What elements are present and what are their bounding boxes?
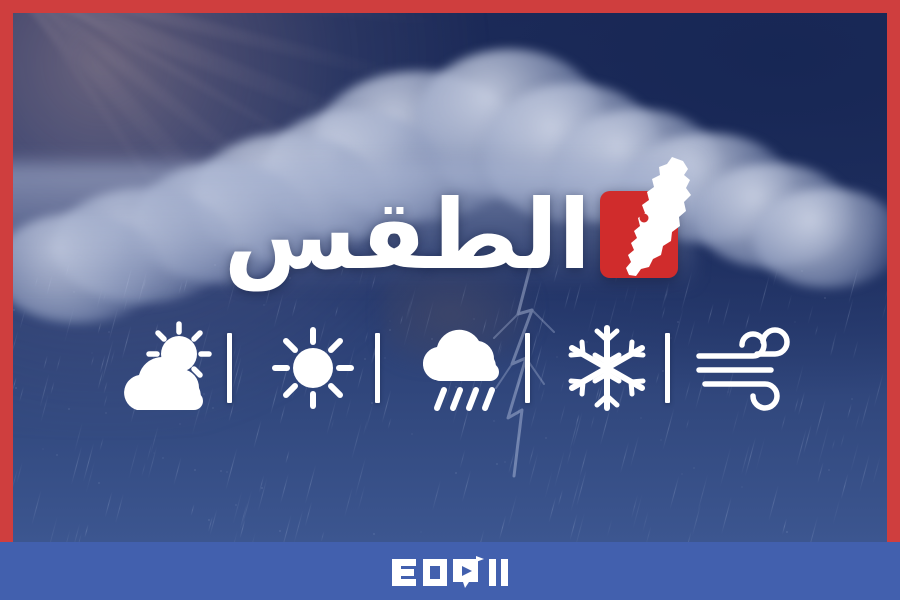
rain-streak [225, 448, 237, 490]
rain-streak [840, 474, 848, 500]
rain-streak [31, 489, 41, 525]
rain-speck [98, 482, 100, 484]
rain-streak [619, 442, 629, 475]
rain-speck [373, 533, 375, 535]
rain-streak [721, 496, 732, 534]
rain-speck [741, 486, 743, 488]
rain-streak [630, 436, 640, 468]
rain-speck [194, 469, 196, 471]
icon-separator [375, 333, 380, 403]
icon-separator [525, 333, 530, 403]
rain-streak [432, 480, 442, 512]
rain-streak [351, 421, 362, 460]
rain-streak [685, 531, 692, 542]
rain-streak [755, 435, 766, 471]
rain-streak [334, 306, 338, 317]
rain-streak [71, 445, 83, 485]
rain-streak [65, 530, 71, 542]
rain-streak [141, 462, 146, 477]
rain-streak [257, 478, 267, 513]
rain-speck [179, 423, 181, 425]
rain-cloud-icon[interactable] [411, 318, 521, 418]
rain-speck [13, 309, 15, 311]
rain-streak [840, 433, 845, 447]
rain-streak [508, 494, 518, 528]
rain-streak [882, 301, 887, 319]
icon-separator [665, 333, 670, 403]
title-row: الطقس [13, 176, 887, 294]
rain-speck [828, 469, 830, 471]
channel-wordmark-logo[interactable] [390, 554, 510, 588]
rain-speck [660, 439, 662, 441]
capital-marker [640, 214, 649, 223]
rain-streak [460, 450, 466, 469]
background-photo: الطقس [13, 13, 887, 542]
rain-streak [569, 513, 577, 540]
rain-streak [84, 524, 89, 538]
rain-streak [872, 455, 881, 485]
rain-speck [824, 297, 826, 299]
rain-streak [46, 514, 58, 542]
rain-speck [162, 457, 164, 459]
wind-icon[interactable] [691, 318, 801, 418]
rain-streak [286, 450, 291, 464]
rain-streak [548, 497, 556, 523]
rain-streak [803, 423, 812, 454]
rain-speck [681, 473, 683, 475]
rain-speck [786, 531, 788, 533]
rain-streak [320, 531, 324, 542]
rain-streak [281, 514, 291, 542]
rain-speck [42, 448, 44, 450]
rain-streak [850, 441, 860, 473]
rain-streak [74, 421, 83, 452]
rain-streak [499, 515, 507, 540]
rain-speck [153, 452, 155, 454]
rain-streak [305, 464, 316, 503]
rain-streak [642, 511, 649, 533]
rain-streak [358, 485, 366, 511]
weather-title-card: الطقس [0, 0, 900, 600]
rain-streak [558, 489, 563, 505]
rain-streak [294, 510, 304, 542]
rain-streak [104, 491, 112, 518]
rain-streak [831, 439, 835, 450]
rain-speck [226, 471, 228, 473]
rain-streak [787, 294, 792, 311]
rain-streak [128, 442, 139, 479]
rain-streak [115, 493, 124, 523]
lebanon-map-shape [587, 155, 707, 285]
rain-streak [768, 484, 779, 521]
page-title: الطقس [224, 176, 591, 294]
rain-streak [859, 454, 870, 493]
partly-cloudy-icon[interactable] [117, 318, 225, 418]
rain-streak [645, 526, 651, 542]
rain-streak [230, 530, 238, 542]
rain-streak [670, 475, 680, 509]
rain-streak [280, 473, 289, 503]
bottom-bar [0, 542, 900, 600]
rain-speck [235, 504, 237, 506]
rain-streak [344, 486, 353, 517]
sun-icon[interactable] [265, 318, 361, 418]
rain-speck [208, 519, 210, 521]
rain-streak [807, 515, 819, 542]
rain-streak [304, 501, 312, 526]
rain-speck [693, 467, 695, 469]
icon-separator [227, 333, 232, 403]
rain-streak [477, 529, 485, 542]
snowflake-icon[interactable] [561, 318, 653, 418]
rain-streak [173, 457, 182, 486]
rain-streak [247, 532, 256, 542]
rain-streak [692, 504, 702, 537]
rain-streak [388, 418, 392, 429]
rain-streak [607, 519, 613, 539]
rain-streak [817, 425, 829, 466]
rain-streak [191, 504, 195, 516]
rain-speck [220, 470, 222, 472]
rain-speck [279, 530, 281, 532]
rain-speck [56, 454, 58, 456]
rain-streak [331, 419, 335, 431]
weather-icon-strip [13, 318, 887, 418]
lebanon-map-logo [587, 155, 707, 285]
rain-streak [832, 497, 840, 525]
rain-streak [99, 437, 104, 451]
rain-speck [455, 472, 457, 474]
rain-streak [354, 457, 366, 497]
rain-speck [420, 531, 422, 533]
rain-speck [411, 433, 413, 435]
rain-streak [240, 490, 252, 530]
rain-streak [686, 419, 690, 429]
rain-streak [291, 298, 297, 317]
rain-streak [253, 419, 262, 448]
rain-streak [720, 447, 732, 488]
